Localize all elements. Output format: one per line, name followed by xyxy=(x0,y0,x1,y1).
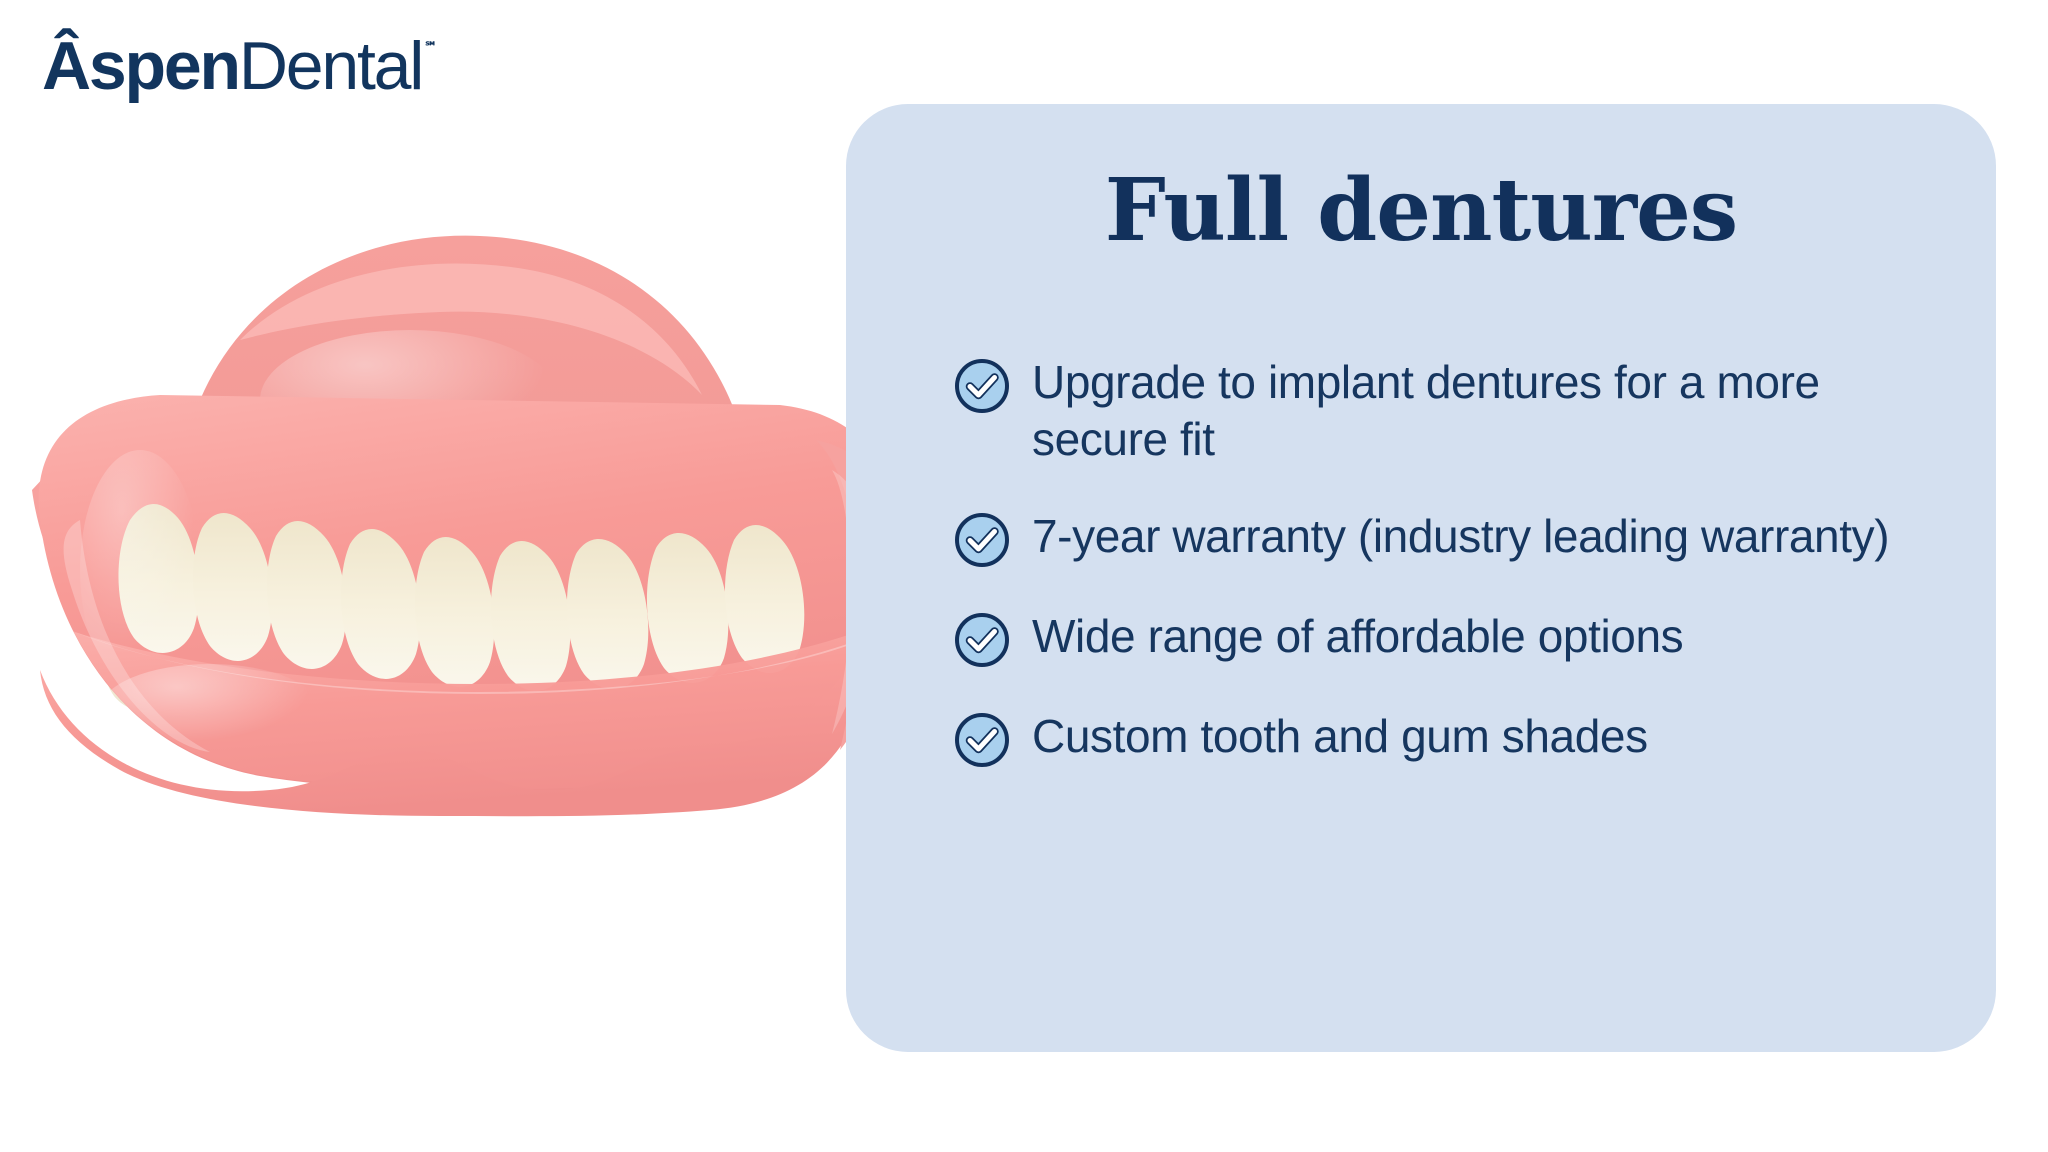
list-item: Custom tooth and gum shades xyxy=(954,708,1954,768)
check-circle-icon xyxy=(954,512,1010,568)
benefit-label: Upgrade to implant dentures for a more s… xyxy=(1032,354,1902,468)
logo-wordmark-dental: Dental xyxy=(239,34,422,99)
check-circle-icon xyxy=(954,358,1010,414)
logo-wordmark-aspen: Âspen xyxy=(42,34,239,99)
full-dentures-photo xyxy=(10,190,930,820)
check-circle-icon xyxy=(954,612,1010,668)
list-item: 7-year warranty (industry leading warran… xyxy=(954,508,1954,568)
benefits-list: Upgrade to implant dentures for a more s… xyxy=(954,354,1954,768)
list-item: Wide range of affordable options xyxy=(954,608,1954,668)
benefit-label: Custom tooth and gum shades xyxy=(1032,708,1648,765)
logo-trademark-symbol: ℠ xyxy=(424,40,437,53)
page-title: Full dentures xyxy=(846,166,1996,256)
benefit-label: Wide range of affordable options xyxy=(1032,608,1683,665)
check-circle-icon xyxy=(954,712,1010,768)
aspen-dental-logo[interactable]: Âspen Dental ℠ xyxy=(42,34,437,99)
benefit-label: 7-year warranty (industry leading warran… xyxy=(1032,508,1889,565)
list-item: Upgrade to implant dentures for a more s… xyxy=(954,354,1954,468)
full-dentures-info-panel: Full dentures Upgrade to implant denture… xyxy=(846,104,1996,1052)
lower-denture-arch xyxy=(39,395,895,820)
